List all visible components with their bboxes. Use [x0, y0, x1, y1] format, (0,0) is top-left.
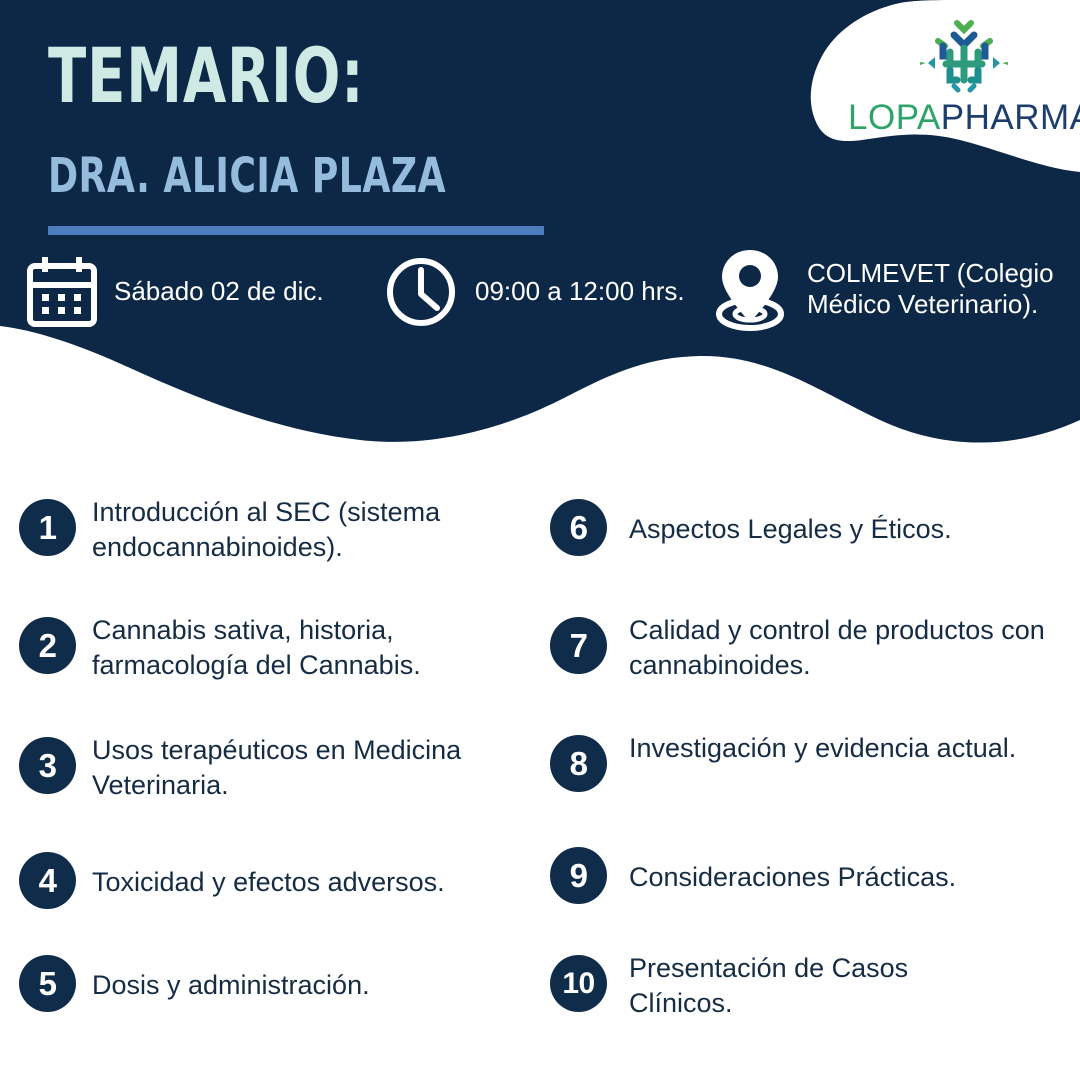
- topic-label: Usos terapéuticos en Medicina Veterinari…: [92, 733, 482, 803]
- logo: LOPAPHARMA: [848, 18, 1080, 135]
- event-location: COLMEVET (Colegio Médico Veterinario).: [707, 244, 1080, 336]
- topic-label: Introducción al SEC (sistema endocannabi…: [92, 495, 522, 565]
- event-time: 09:00 a 12:00 hrs.: [385, 254, 685, 328]
- topic-item-7[interactable]: 7 Calidad y control de productos con can…: [550, 617, 1080, 683]
- topic-number-badge: 10: [550, 955, 607, 1012]
- speaker-name: DRA. ALICIA PLAZA: [48, 152, 446, 200]
- clock-icon: [385, 254, 457, 328]
- topics-list: 1 Introducción al SEC (sistema endocanna…: [0, 470, 1080, 1080]
- topic-label: Cannabis sativa, historia, farmacología …: [92, 613, 512, 683]
- topic-label: Investigación y evidencia actual.: [629, 731, 1029, 766]
- topic-number-badge: 1: [19, 499, 76, 556]
- topic-label: Dosis y administración.: [92, 968, 512, 1003]
- topic-item-3[interactable]: 3 Usos terapéuticos en Medicina Veterina…: [19, 737, 524, 803]
- topic-number-badge: 2: [19, 617, 76, 674]
- topic-number-badge: 5: [19, 955, 76, 1012]
- topic-item-2[interactable]: 2 Cannabis sativa, historia, farmacologí…: [19, 617, 524, 683]
- topic-number-badge: 3: [19, 737, 76, 794]
- topic-number-badge: 9: [550, 847, 607, 904]
- topic-label: Toxicidad y efectos adversos.: [92, 865, 522, 900]
- topics-column-right: 6 Aspectos Legales y Éticos. 7 Calidad y…: [540, 470, 1080, 1080]
- event-location-text: COLMEVET (Colegio Médico Veterinario).: [807, 258, 1080, 319]
- event-date: Sábado 02 de dic.: [26, 254, 324, 328]
- event-time-text: 09:00 a 12:00 hrs.: [475, 276, 685, 307]
- calendar-icon: [26, 254, 98, 328]
- title-divider: [48, 226, 544, 235]
- topic-label: Aspectos Legales y Éticos.: [629, 512, 1049, 547]
- topic-number-badge: 4: [19, 852, 76, 909]
- logo-word-lopa: LOPA: [848, 98, 941, 137]
- topic-label: Consideraciones Prácticas.: [629, 860, 1059, 895]
- header-content: TEMARIO: DRA. ALICIA PLAZA: [0, 0, 1080, 470]
- event-date-text: Sábado 02 de dic.: [114, 276, 324, 307]
- topic-label: Calidad y control de productos con canna…: [629, 613, 1079, 683]
- topic-label: Presentación de Casos Clínicos.: [629, 951, 999, 1021]
- topic-item-5[interactable]: 5 Dosis y administración.: [19, 955, 524, 1012]
- topic-item-6[interactable]: 6 Aspectos Legales y Éticos.: [550, 499, 1080, 556]
- topic-number-badge: 7: [550, 617, 607, 674]
- lopapharma-snowflake-icon: [910, 18, 1018, 96]
- poster-canvas: TEMARIO: DRA. ALICIA PLAZA: [0, 0, 1080, 1080]
- topics-column-left: 1 Introducción al SEC (sistema endocanna…: [0, 470, 540, 1080]
- topic-item-4[interactable]: 4 Toxicidad y efectos adversos.: [19, 852, 524, 909]
- location-pin-icon: [707, 244, 793, 336]
- logo-word-pharma: PHARMA: [941, 98, 1080, 137]
- topic-item-9[interactable]: 9 Consideraciones Prácticas.: [550, 847, 1080, 904]
- topic-item-10[interactable]: 10 Presentación de Casos Clínicos.: [550, 955, 1080, 1021]
- topic-number-badge: 8: [550, 735, 607, 792]
- topic-number-badge: 6: [550, 499, 607, 556]
- page-title: TEMARIO:: [48, 38, 364, 114]
- logo-wordmark: LOPAPHARMA: [848, 100, 1080, 135]
- topic-item-8[interactable]: 8 Investigación y evidencia actual.: [550, 735, 1080, 792]
- topic-item-1[interactable]: 1 Introducción al SEC (sistema endocanna…: [19, 499, 524, 565]
- event-meta-row: Sábado 02 de dic. 09:00 a 12:00 hrs. C: [0, 248, 1080, 348]
